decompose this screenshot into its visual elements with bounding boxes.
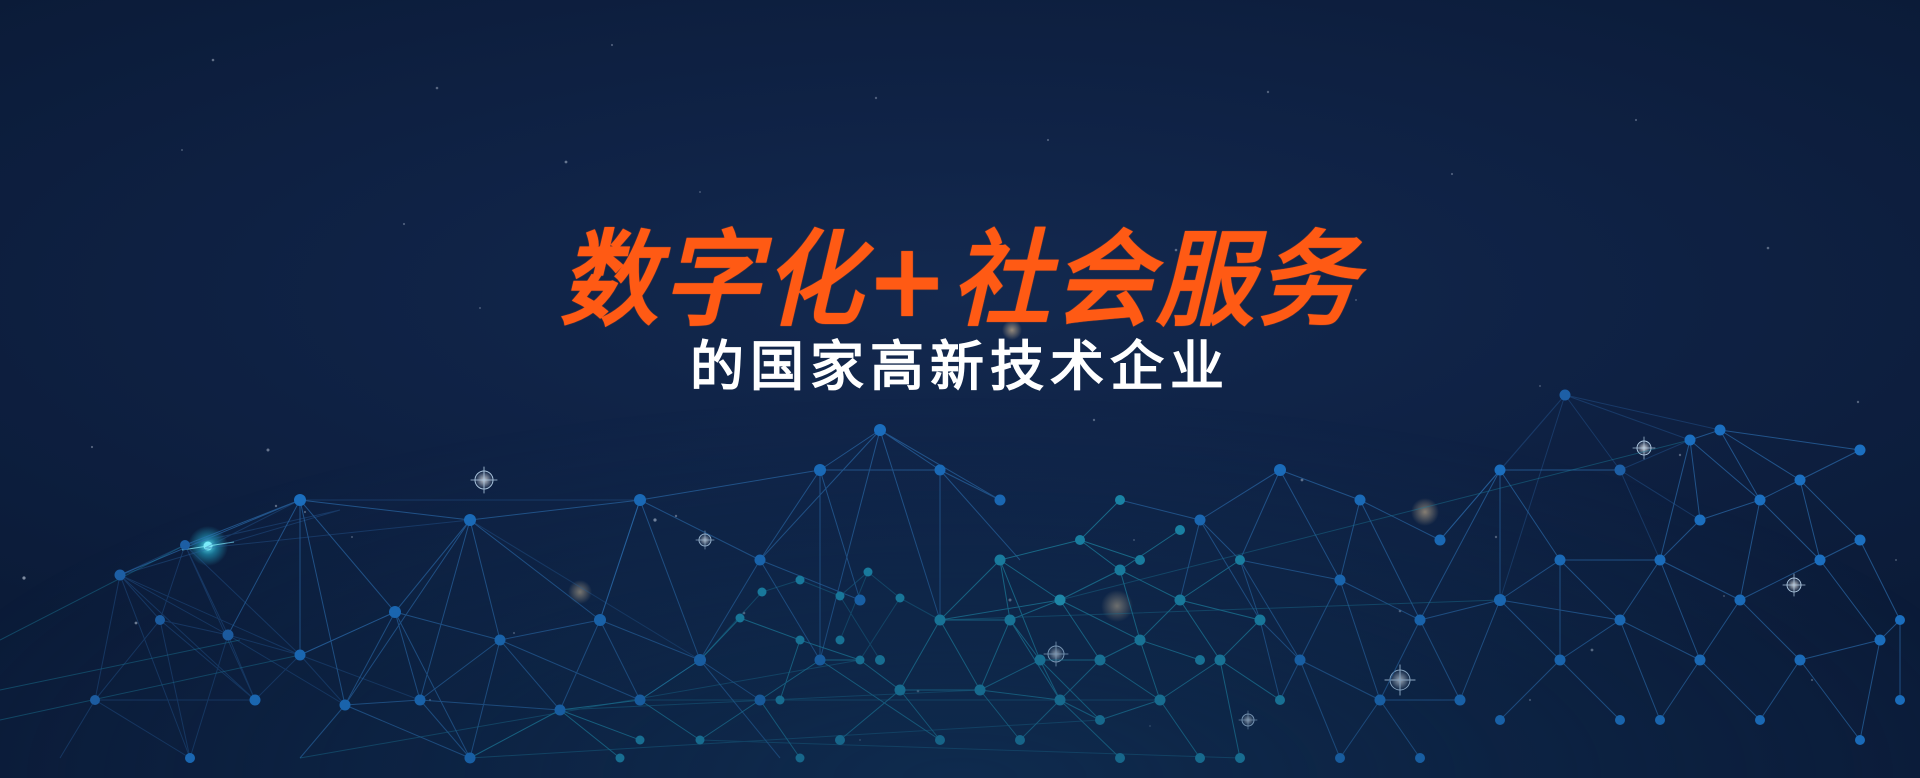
- network-mesh-graphic: .eB { stroke:#2f74b8; stroke-width:1; fi…: [0, 0, 1920, 778]
- hero-banner: .eB { stroke:#2f74b8; stroke-width:1; fi…: [0, 0, 1920, 778]
